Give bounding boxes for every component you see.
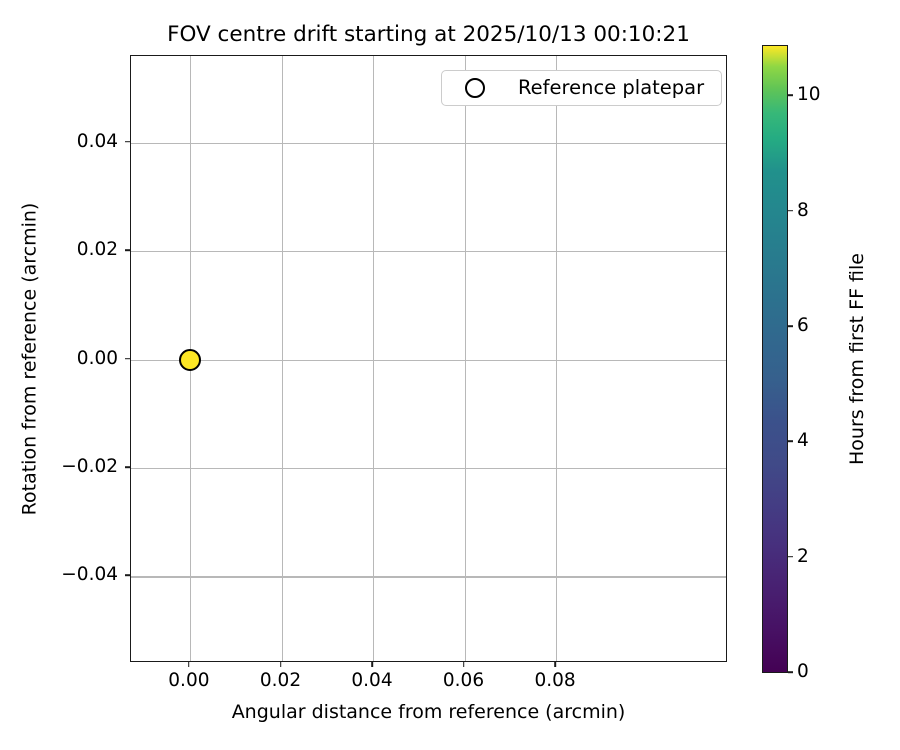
gridline-horizontal	[131, 251, 726, 252]
legend-entry-label: Reference platepar	[518, 76, 704, 100]
legend[interactable]: Reference platepar	[441, 70, 722, 106]
colorbar-gradient	[763, 46, 787, 672]
y-tick-mark	[125, 358, 130, 360]
colorbar-tick-label: 0	[797, 661, 809, 683]
gridline-vertical	[465, 56, 466, 661]
y-tick-label: 0.04	[40, 131, 118, 153]
y-tick-mark	[125, 466, 130, 468]
x-tick-mark	[554, 662, 556, 667]
x-tick-label: 0.06	[443, 670, 484, 692]
gridline-horizontal	[131, 360, 726, 361]
x-tick-mark	[188, 662, 190, 667]
colorbar[interactable]	[762, 45, 788, 673]
y-tick-mark	[125, 249, 130, 251]
page-title: FOV centre drift starting at 2025/10/13 …	[130, 22, 727, 48]
gridline-horizontal	[131, 576, 726, 577]
x-tick-label: 0.00	[168, 670, 209, 692]
gridline-horizontal	[131, 143, 726, 144]
y-tick-label: −0.04	[40, 564, 118, 586]
x-tick-label: 0.04	[351, 670, 392, 692]
x-tick-mark	[371, 662, 373, 667]
y-tick-mark	[125, 575, 130, 577]
figure-canvas: FOV centre drift starting at 2025/10/13 …	[0, 0, 900, 750]
data-point-reference-platepar[interactable]	[179, 349, 201, 371]
colorbar-tick-mark	[788, 671, 793, 673]
legend-marker-circle-icon	[465, 78, 485, 98]
colorbar-label: Hours from first FF file	[845, 45, 869, 673]
colorbar-tick-label: 4	[797, 430, 809, 452]
x-tick-label: 0.02	[260, 670, 301, 692]
y-axis-label: Rotation from reference (arcmin)	[18, 56, 42, 663]
colorbar-tick-label: 8	[797, 200, 809, 222]
colorbar-tick-mark	[788, 441, 793, 443]
y-tick-label: −0.02	[40, 456, 118, 478]
x-tick-mark	[463, 662, 465, 667]
colorbar-tick-label: 2	[797, 546, 809, 568]
colorbar-tick-label: 6	[797, 315, 809, 337]
colorbar-tick-mark	[788, 556, 793, 558]
colorbar-tick-label: 10	[797, 84, 821, 106]
gridline-vertical	[282, 56, 283, 661]
gridline-vertical	[556, 56, 557, 661]
x-axis-label: Angular distance from reference (arcmin)	[130, 700, 727, 724]
colorbar-tick-mark	[788, 325, 793, 327]
gridline-horizontal	[131, 468, 726, 469]
y-tick-label: 0.02	[40, 239, 118, 261]
y-tick-label: 0.00	[40, 348, 118, 370]
x-tick-mark	[280, 662, 282, 667]
colorbar-tick-mark	[788, 95, 793, 97]
gridline-vertical	[373, 56, 374, 661]
plot-area[interactable]	[130, 55, 727, 662]
x-tick-label: 0.08	[534, 670, 575, 692]
y-tick-mark	[125, 141, 130, 143]
colorbar-tick-mark	[788, 210, 793, 212]
